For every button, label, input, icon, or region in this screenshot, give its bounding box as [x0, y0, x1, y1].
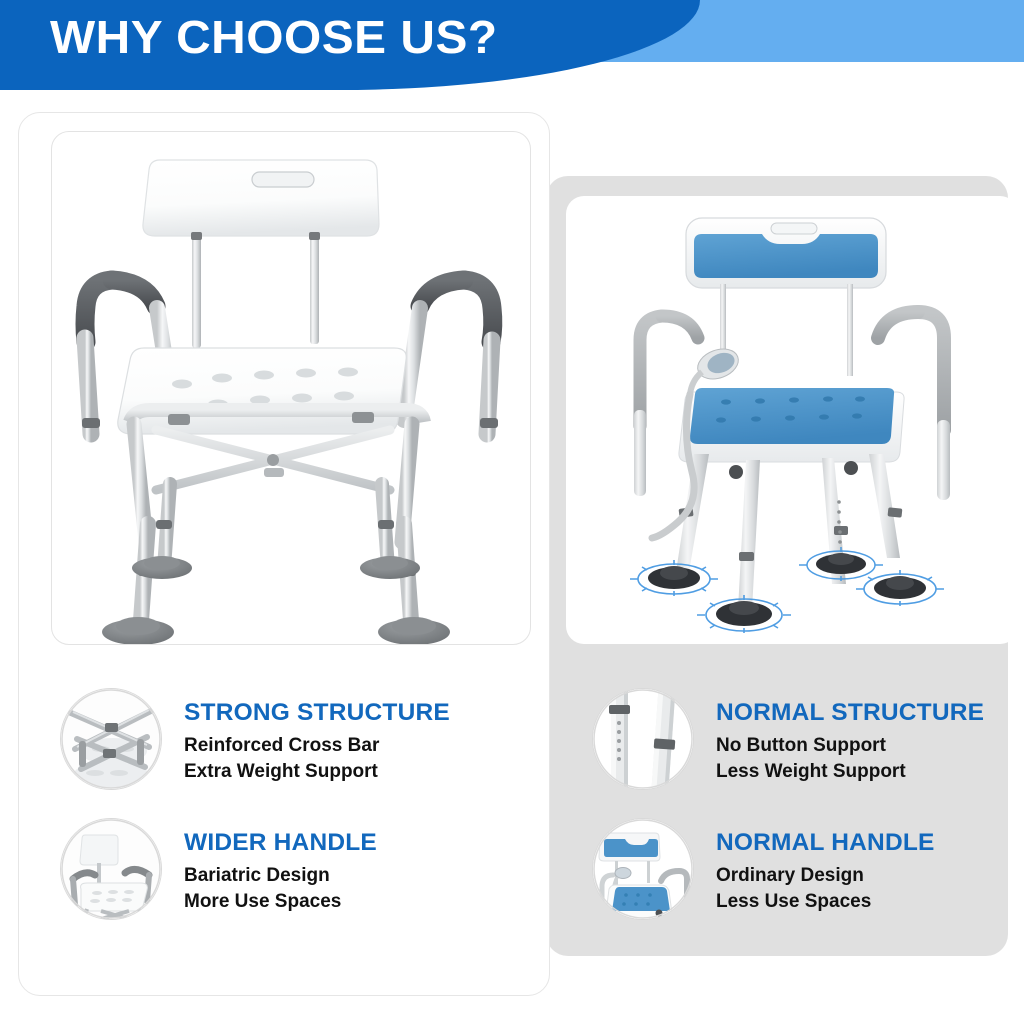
suction-feet-normal [630, 547, 944, 633]
feature-text: WIDER HANDLE Bariatric Design More Use S… [184, 818, 377, 914]
header-banner: WHY CHOOSE US? [0, 0, 1024, 96]
legs-normal [676, 454, 900, 610]
wide-handle-icon [60, 818, 162, 920]
backrest-normal [686, 218, 886, 288]
feature-wider-handle: WIDER HANDLE Bariatric Design More Use S… [60, 818, 377, 920]
feature-normal-handle: NORMAL HANDLE Ordinary Design Less Use S… [592, 818, 935, 920]
feature-title: WIDER HANDLE [184, 830, 377, 856]
feature-text: STRONG STRUCTURE Reinforced Cross Bar Ex… [184, 688, 450, 784]
feature-line-2: Less Use Spaces [716, 890, 935, 914]
feature-title: NORMAL STRUCTURE [716, 700, 984, 726]
feature-line-1: Reinforced Cross Bar [184, 734, 450, 758]
feature-title: STRONG STRUCTURE [184, 700, 450, 726]
plain-leg-tube-icon [592, 688, 694, 790]
infographic-root: WHY CHOOSE US? [0, 0, 1024, 1024]
feature-line-1: No Button Support [716, 734, 984, 758]
seat-normal [679, 388, 904, 462]
feature-normal-structure: NORMAL STRUCTURE No Button Support Less … [592, 688, 984, 790]
back-posts [191, 232, 320, 348]
product-illustration-normal-chair [566, 196, 1018, 644]
feature-line-2: Less Weight Support [716, 760, 984, 784]
product-image-card-left [51, 131, 531, 645]
page-title: WHY CHOOSE US? [50, 14, 498, 60]
legs-bariatric [140, 484, 412, 634]
feature-strong-structure: STRONG STRUCTURE Reinforced Cross Bar Ex… [60, 688, 450, 790]
feature-title: NORMAL HANDLE [716, 830, 935, 856]
feature-text: NORMAL STRUCTURE No Button Support Less … [716, 688, 984, 784]
feature-line-1: Bariatric Design [184, 864, 377, 888]
feature-line-2: Extra Weight Support [184, 760, 450, 784]
product-image-card-right [566, 196, 1018, 644]
feature-line-2: More Use Spaces [184, 890, 377, 914]
feature-line-1: Ordinary Design [716, 864, 935, 888]
suction-feet-bariatric [102, 556, 450, 644]
cross-bar-icon [60, 688, 162, 790]
backrest-bariatric [143, 160, 379, 236]
ordinary-handle-icon [592, 818, 694, 920]
product-illustration-bariatric-chair [52, 132, 530, 644]
feature-text: NORMAL HANDLE Ordinary Design Less Use S… [716, 818, 935, 914]
